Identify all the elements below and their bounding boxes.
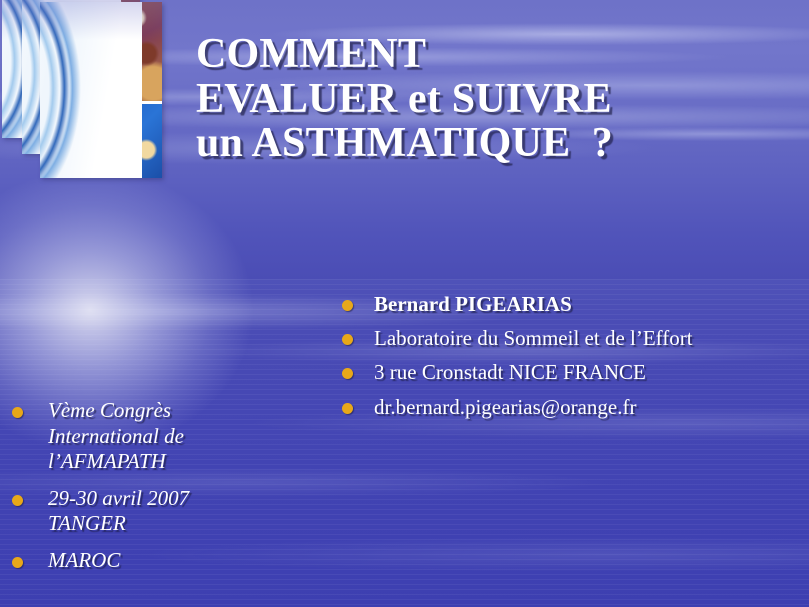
slide-title: COMMENT EVALUER et SUIVRE un ASTHMATIQUE… <box>196 32 796 166</box>
presentation-slide: COMMENT EVALUER et SUIVRE un ASTHMATIQUE… <box>0 0 809 607</box>
list-item: Laboratoire du Sommeil et de l’Effort <box>336 326 756 351</box>
title-line-3: un ASTHMATIQUE ? <box>196 121 796 166</box>
congress-bullet-list: Vème Congrès International de l’AFMAPATH… <box>10 398 260 585</box>
list-item: Vème Congrès International de l’AFMAPATH <box>10 398 260 475</box>
collage-swoosh-icon <box>40 2 142 178</box>
list-item-email: dr.bernard.pigearias@orange.fr <box>336 395 756 420</box>
list-item: Bernard PIGEARIAS <box>336 292 756 317</box>
collage-card-front <box>40 2 162 178</box>
list-item: 3 rue Cronstadt NICE FRANCE <box>336 360 756 385</box>
list-item: 29-30 avril 2007 TANGER <box>10 486 260 537</box>
list-item: MAROC <box>10 548 260 574</box>
title-line-2: EVALUER et SUIVRE <box>196 77 796 122</box>
author-bullet-list: Bernard PIGEARIAS Laboratoire du Sommeil… <box>336 292 756 429</box>
title-line-1: COMMENT <box>196 32 796 77</box>
photo-collage <box>0 0 162 180</box>
